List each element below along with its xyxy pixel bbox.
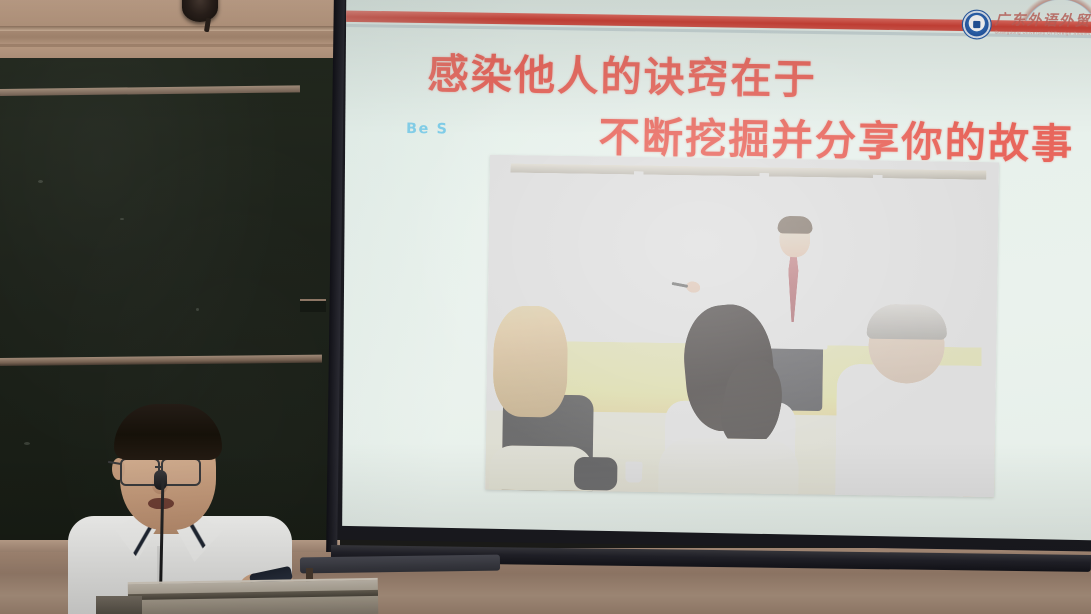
blackboard-upper-rail xyxy=(0,85,300,96)
logo-name-en: Guangdong University Of Foreign Studies xyxy=(995,31,1091,37)
logo-name-cn: 广东外语外贸大学 xyxy=(995,13,1091,29)
chalk-speck xyxy=(24,442,30,445)
slide-photo xyxy=(485,155,999,497)
wall-trim-line xyxy=(0,44,352,47)
slide-watermark-text: Be S xyxy=(406,121,449,138)
slide: 广东外语外贸大学 Guangdong University Of Foreign… xyxy=(338,0,1091,548)
slide-title-line-1: 感染他人的诀窍在于 xyxy=(427,41,817,107)
speaker-hair xyxy=(114,404,222,460)
university-logo: 广东外语外贸大学 Guangdong University Of Foreign… xyxy=(962,1,1091,48)
side-desk xyxy=(300,555,500,574)
photo-attendee-right xyxy=(835,306,999,497)
speaker-glasses-icon xyxy=(161,458,201,486)
lectern-front-panel xyxy=(96,596,142,614)
photo-attendee-left-hair xyxy=(492,305,568,417)
university-seal-icon xyxy=(962,9,992,39)
chalk-speck xyxy=(38,180,43,183)
photo-attendee-center xyxy=(658,304,815,497)
photo-cup xyxy=(625,462,642,483)
photo-chair xyxy=(658,438,800,498)
lecture-hall-screenshot: 广东外语外贸大学 Guangdong University Of Foreign… xyxy=(0,0,1091,614)
blackboard-rail-end xyxy=(300,299,326,312)
photo-attendee-right-body xyxy=(835,364,999,497)
photo-attendee-right-hair xyxy=(867,304,948,340)
chalk-speck xyxy=(120,218,124,220)
blackboard-chalk-rail xyxy=(0,355,322,366)
photo-presenter-hair xyxy=(777,216,812,234)
photo-bag xyxy=(574,457,618,491)
upper-wall xyxy=(0,0,352,62)
logo-wordmark: 广东外语外贸大学 Guangdong University Of Foreign… xyxy=(995,13,1091,37)
speaker-glasses-bridge xyxy=(155,466,163,468)
projection-screen: 广东外语外贸大学 Guangdong University Of Foreign… xyxy=(338,0,1091,548)
chalk-speck xyxy=(196,308,199,311)
